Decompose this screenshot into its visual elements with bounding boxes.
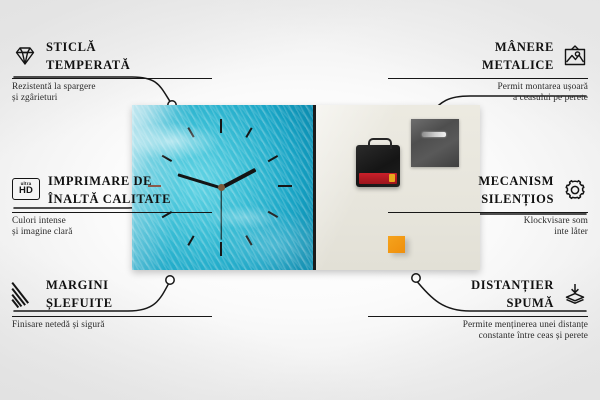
mechanism-handle [368,138,392,149]
feature-title-line2: ȘLEFUITE [46,296,113,310]
feature-tempered-glass: STICLĂ TEMPERATĂ Rezistentă la spargere … [12,38,212,104]
feature-title: MÂNERE METALICE [482,38,554,74]
feature-silent-mechanism: MECANISM SILENȚIOS Klockvisare som inte … [388,172,588,238]
hanger-slot [422,132,446,137]
second-hand [220,188,221,240]
feature-subtitle-line2: constante între ceas și perete [368,331,588,342]
feature-divider [12,212,212,213]
gear-icon [562,178,588,202]
feature-title-line1: MARGINI [46,278,109,292]
feature-title: MARGINI ȘLEFUITE [46,276,113,312]
hanging-frame-icon [562,44,588,68]
feature-subtitle-line1: Culori intense [12,216,212,227]
feature-header: MÂNERE METALICE [388,38,588,74]
feature-title-line2: SPUMĂ [507,296,554,310]
hour-mark [245,127,252,137]
hour-hand [220,168,256,189]
feature-header: DISTANȚIER SPUMĂ [368,276,588,312]
feature-subtitle-line2: a ceasului pe perete [388,93,588,104]
metal-hanger-plate [411,119,459,167]
feature-divider [12,78,212,79]
hour-mark [268,211,278,218]
clock-center-cap [218,184,225,191]
feature-subtitle-line1: Rezistentă la spargere [12,82,212,93]
diamond-icon [12,44,38,68]
feature-title-line1: IMPRIMARE DE [48,174,152,188]
feature-divider [388,78,588,79]
hour-mark [278,185,292,187]
feature-subtitle-line2: și imagine clară [12,227,212,238]
feature-title-line1: MECANISM [478,174,554,188]
feature-subtitle-line2: inte låter [388,227,588,238]
ultra-hd-large-text: HD [19,186,33,196]
feature-subtitle-line1: Klockvisare som [388,216,588,227]
feature-divider [388,212,588,213]
feature-title: STICLĂ TEMPERATĂ [46,38,130,74]
hour-mark [162,155,172,162]
feature-subtitle-line1: Finisare netedă și sigură [12,320,212,331]
feature-high-quality-print: ultra HD IMPRIMARE DE ÎNALTĂ CALITATE Cu… [12,172,212,238]
feature-foam-spacer: DISTANȚIER SPUMĂ Permite menținerea unei… [368,276,588,342]
foam-spacer-icon [562,282,588,306]
beveled-edge-icon [12,282,38,306]
feature-subtitle-line1: Permit montarea ușoară [388,82,588,93]
hour-mark [245,235,252,245]
feature-title-line1: DISTANȚIER [471,278,554,292]
feature-title-line2: SILENȚIOS [481,192,554,206]
ultra-hd-icon: ultra HD [12,178,40,202]
feature-title: DISTANȚIER SPUMĂ [471,276,554,312]
feature-title-line2: TEMPERATĂ [46,58,130,72]
hour-mark [220,242,222,256]
hour-mark [187,127,194,137]
hour-mark [268,155,278,162]
feature-divider [368,316,588,317]
feature-header: MECANISM SILENȚIOS [388,172,588,208]
feature-title-line1: STICLĂ [46,40,96,54]
feature-header: STICLĂ TEMPERATĂ [12,38,212,74]
hour-mark [220,119,222,133]
foam-spacer [388,236,405,253]
feature-title: IMPRIMARE DE ÎNALTĂ CALITATE [48,172,171,208]
feature-header: MARGINI ȘLEFUITE [12,276,212,312]
feature-subtitle-line2: și zgârieturi [12,93,212,104]
feature-title-line2: ÎNALTĂ CALITATE [48,192,171,206]
feature-header: ultra HD IMPRIMARE DE ÎNALTĂ CALITATE [12,172,212,208]
feature-divider [12,316,212,317]
feature-polished-edges: MARGINI ȘLEFUITE Finisare netedă și sigu… [12,276,212,331]
feature-title: MECANISM SILENȚIOS [478,172,554,208]
infographic-canvas: STICLĂ TEMPERATĂ Rezistentă la spargere … [0,0,600,400]
feature-title-line2: METALICE [482,58,554,72]
feature-metal-handles: MÂNERE METALICE Permit montarea ușoară a… [388,38,588,104]
feature-title-line1: MÂNERE [495,40,554,54]
feature-subtitle-line1: Permite menținerea unei distanțe [368,320,588,331]
